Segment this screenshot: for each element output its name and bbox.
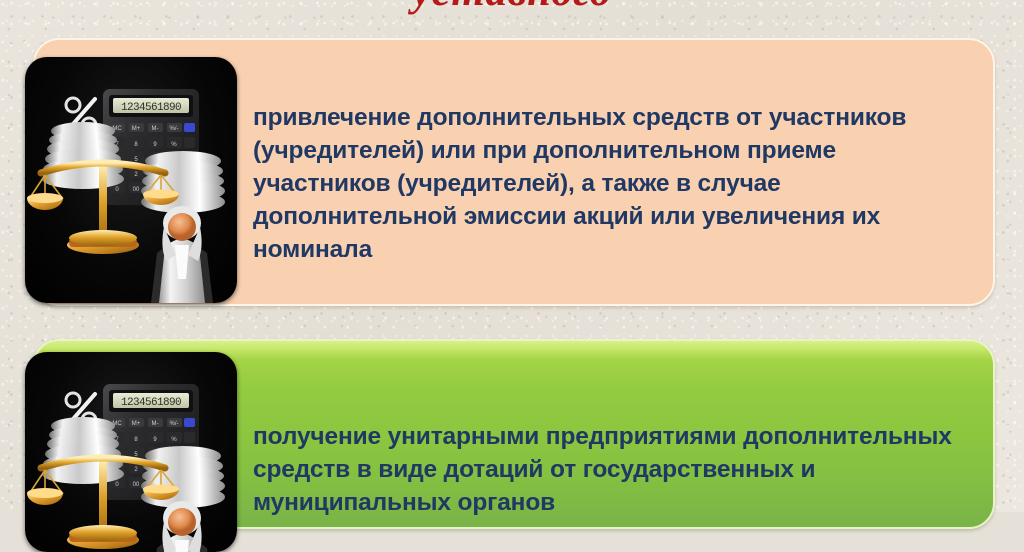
svg-text:M-: M- bbox=[152, 126, 159, 132]
finance-illustration-icon: 1234561890 bbox=[25, 57, 237, 303]
svg-text:M+: M+ bbox=[132, 421, 141, 427]
coin-stack-left bbox=[42, 122, 124, 189]
judge-figure-icon bbox=[151, 206, 213, 303]
svg-text:00: 00 bbox=[133, 482, 140, 488]
panel-text-peach: привлечение дополнительных средств от уч… bbox=[253, 101, 943, 266]
svg-text:1234561890: 1234561890 bbox=[121, 102, 181, 114]
svg-text:%: % bbox=[171, 142, 177, 148]
finance-illustration-icon: 1234561890 bbox=[25, 352, 237, 552]
panel-text-green: получение унитарными предприятиями допол… bbox=[253, 420, 993, 519]
svg-text:M-: M- bbox=[152, 421, 159, 427]
svg-text:%/-: %/- bbox=[170, 126, 179, 132]
svg-text:M+: M+ bbox=[132, 126, 141, 132]
svg-text:00: 00 bbox=[133, 187, 140, 193]
slide-title: уставного bbox=[0, 0, 1024, 14]
slide-canvas: уставного bbox=[0, 0, 1024, 512]
svg-text:%/-: %/- bbox=[170, 421, 179, 427]
svg-text:%: % bbox=[171, 437, 177, 443]
finance-illustration-peach: 1234561890 bbox=[25, 57, 237, 303]
svg-text:1234561890: 1234561890 bbox=[121, 397, 181, 409]
finance-illustration-green: 1234561890 bbox=[25, 352, 237, 552]
